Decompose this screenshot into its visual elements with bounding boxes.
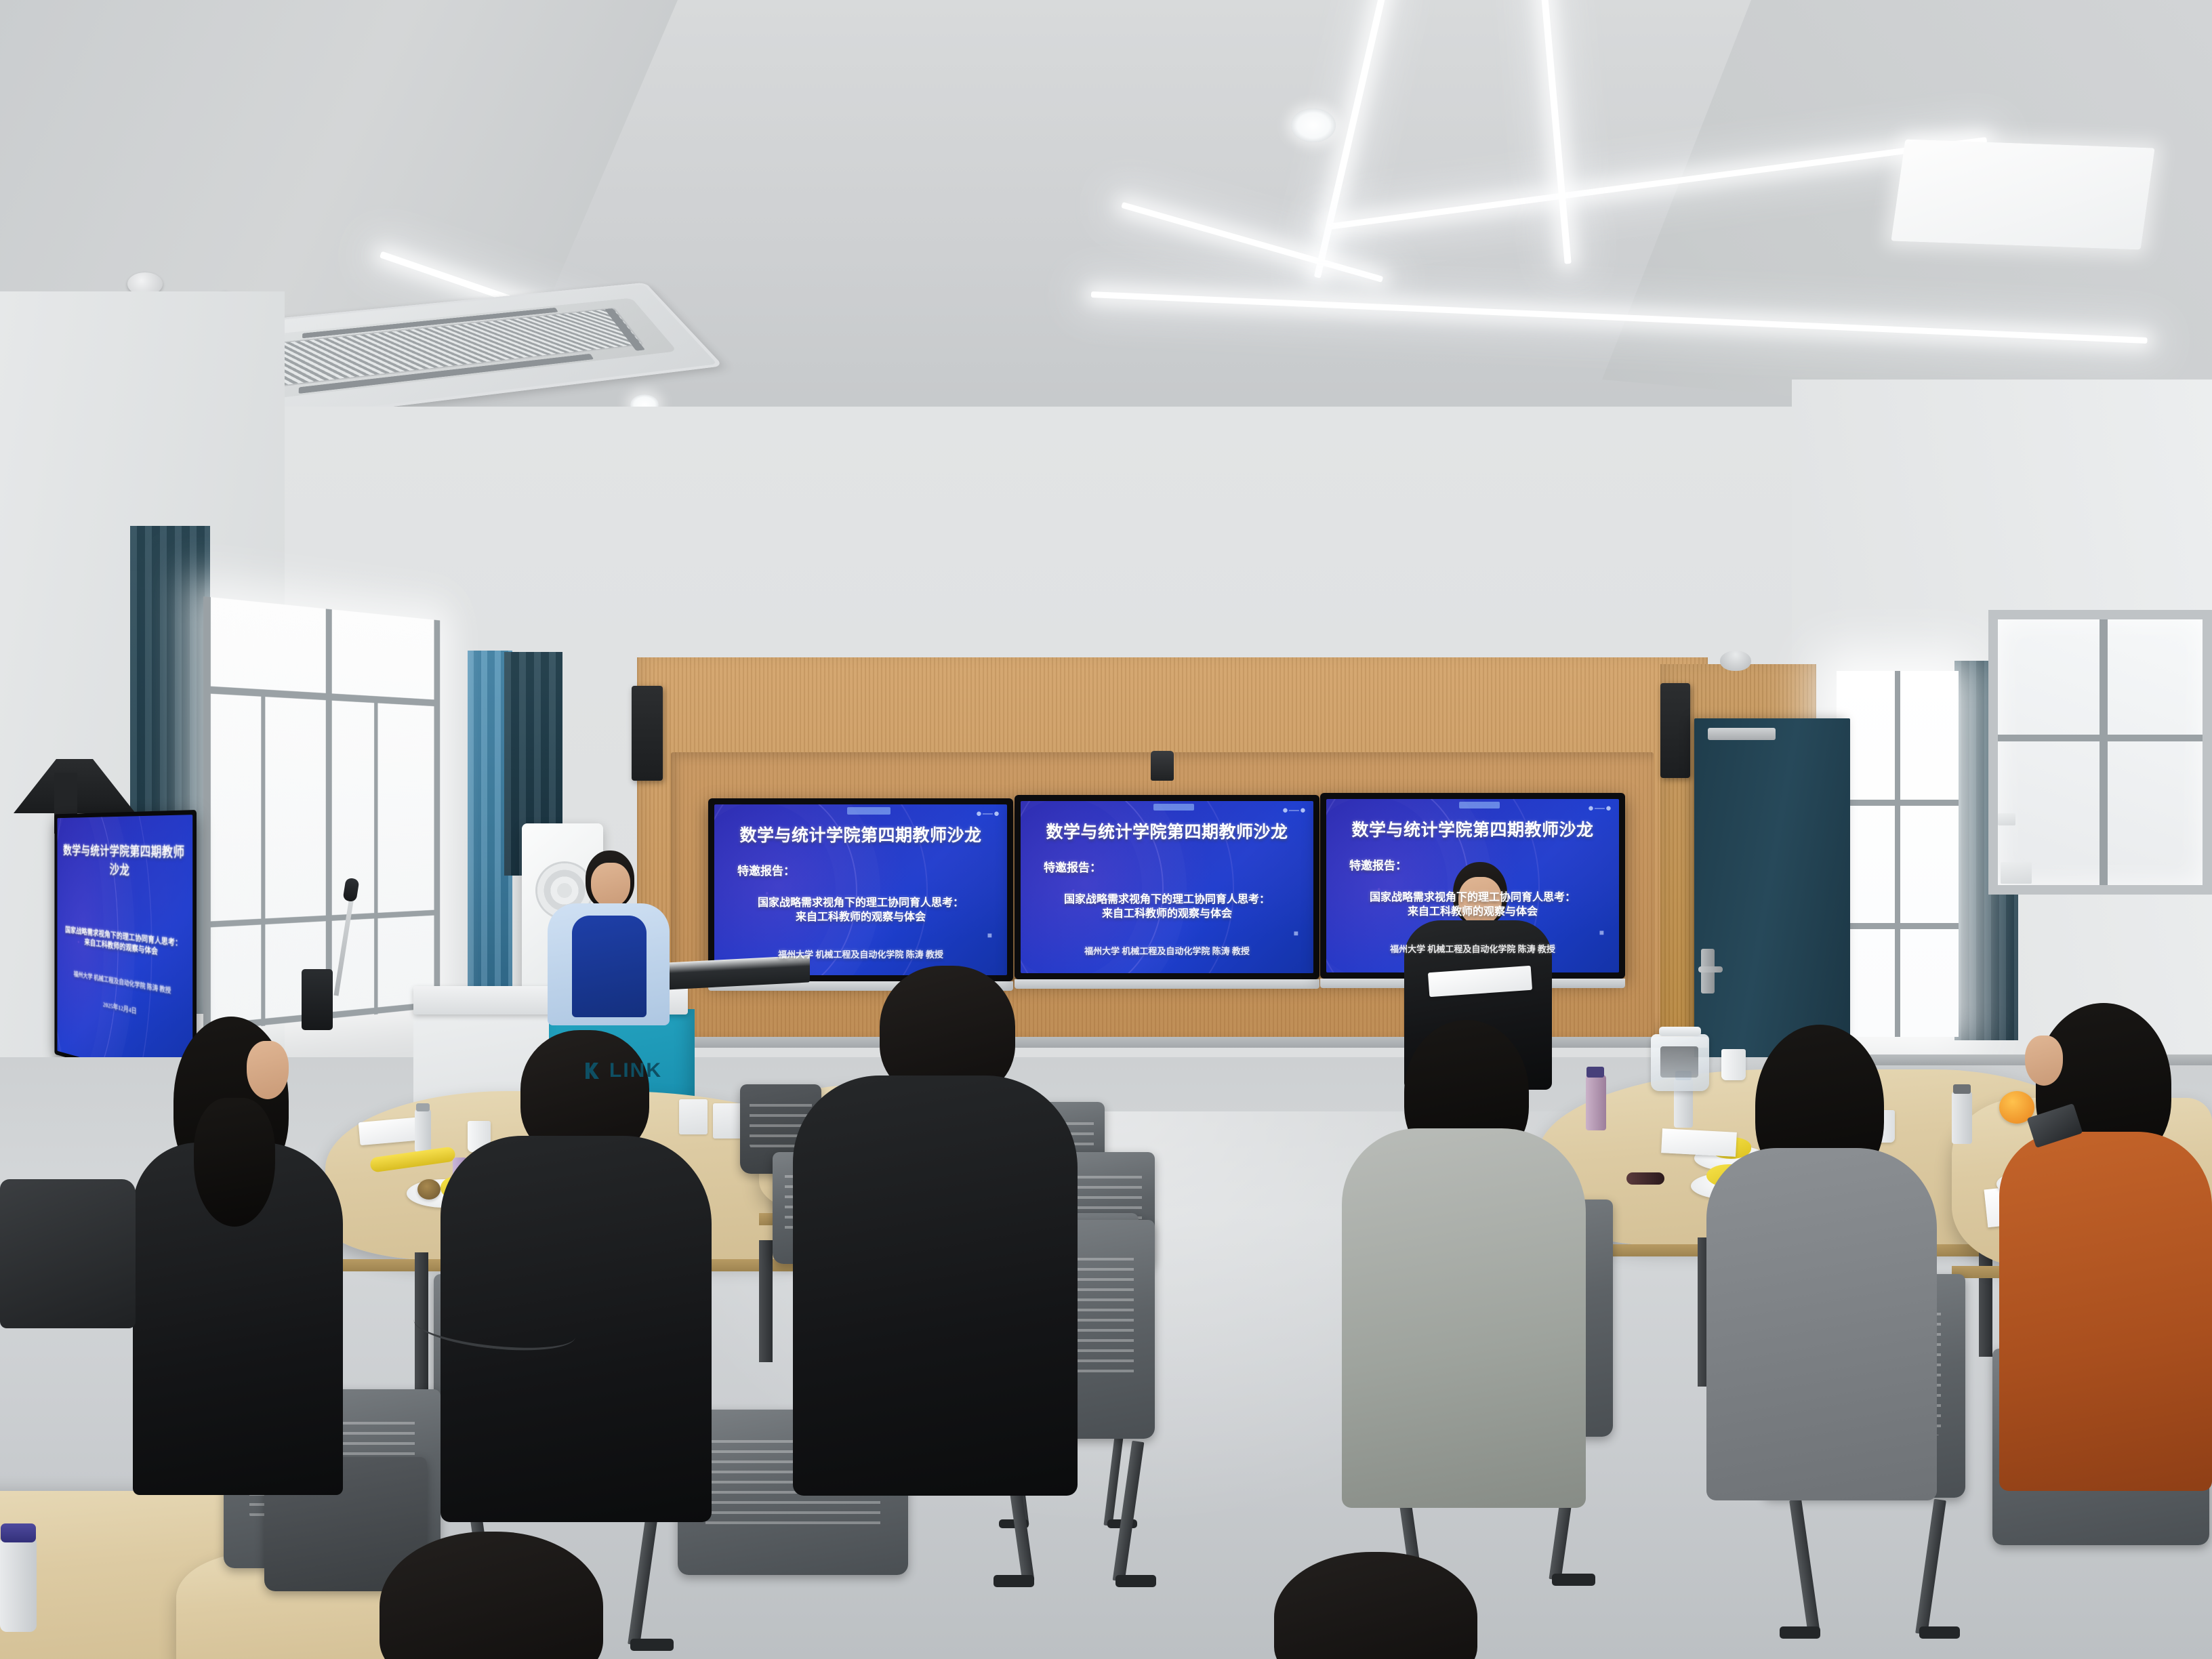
slide-title: 数学与统计学院第四期教师沙龙: [61, 841, 187, 882]
power-outlet[interactable]: [713, 1103, 741, 1139]
camera-icon: [1151, 751, 1174, 781]
attendee-1: [133, 1017, 356, 1491]
window-left: [203, 596, 440, 1030]
slide-label: 特邀报告：: [1349, 856, 1407, 873]
window-far-right: [1988, 610, 2212, 895]
slide-date: 2025年12月4日: [103, 1000, 137, 1017]
slide-author: 福州大学 机械工程及自动化学院 陈涛 教授: [1084, 944, 1250, 957]
table-leg: [759, 1240, 773, 1362]
slide-topic-line1: 国家战略需求视角下的理工协同育人思考：: [1064, 893, 1270, 907]
door-handle[interactable]: [1701, 949, 1715, 994]
slide-author: 福州大学 机械工程及自动化学院 陈涛 教授: [1390, 942, 1555, 955]
backpack: [0, 1179, 136, 1328]
attendee-foreground-right: [1274, 1552, 1477, 1659]
attendee-3: [793, 966, 1078, 1501]
main-display-3[interactable]: ●—● 数学与统计学院第四期教师沙龙 特邀报告： 国家战略需求视角下的理工协同育…: [1320, 793, 1625, 979]
slide-topic-line2: 来自工科教师的观察与体会: [796, 910, 926, 924]
bottle-cap-icon: [1, 1523, 36, 1542]
main-display-1[interactable]: ●—● 数学与统计学院第四期教师沙龙 特邀报告： 国家战略需求视角下的理工协同育…: [708, 798, 1013, 981]
slide-topic-line2: 来自工科教师的观察与体会: [1102, 907, 1232, 921]
attendee-6: [1999, 1003, 2212, 1491]
speaker-podium: [542, 851, 671, 1027]
slide-label: 特邀报告：: [737, 861, 795, 878]
attendee-2: [441, 1030, 712, 1518]
bottle-cap-icon: [1586, 1067, 1604, 1078]
yogurt-bottle: [0, 1537, 37, 1632]
meeting-room-photo: ●—● 数学与统计学院第四期教师沙龙 特邀报告： 国家战略需求视角下的理工协同育…: [0, 0, 2212, 1659]
water-bottle: [415, 1109, 431, 1152]
podium-brand-label: LINK: [609, 1059, 662, 1082]
bottle-cap-icon: [416, 1103, 430, 1111]
wall-switch-plate[interactable]: [1998, 813, 2015, 825]
wall-speaker-left: [632, 686, 663, 781]
slide-topic-line2: 来自工科教师的观察与体会: [1408, 905, 1538, 919]
bottle-cap-icon: [1953, 1084, 1971, 1094]
window-right: [1837, 671, 1959, 1037]
screen-corner-dots: ●—●: [976, 808, 1000, 819]
dome-camera-icon: [1720, 651, 1751, 671]
wall-speaker-right: [1660, 683, 1690, 778]
ceiling-light-panel: [1891, 140, 2154, 250]
attendee-foreground: [380, 1532, 603, 1659]
screen-corner-dots: ●—●: [1588, 802, 1612, 814]
downlight-icon: [1291, 108, 1336, 142]
kiwi-fruit: [417, 1179, 441, 1200]
screen-corner-dots: ●—●: [1282, 804, 1307, 816]
slide-title: 数学与统计学院第四期教师沙龙: [1031, 819, 1303, 843]
slide-topic-line1: 国家战略需求视角下的理工协同育人思考：: [1370, 890, 1576, 905]
water-bottle: [1952, 1091, 1972, 1144]
slide-label: 特邀报告：: [1044, 858, 1101, 875]
water-bottle: [1586, 1075, 1606, 1130]
link-logo-icon: [583, 1061, 603, 1081]
slide-title: 数学与统计学院第四期教师沙龙: [725, 822, 996, 846]
slide-author: 福州大学 机械工程及自动化学院 陈涛 教授: [778, 947, 943, 960]
attendee-4: [1342, 1020, 1586, 1508]
main-display-2[interactable]: ●—● 数学与统计学院第四期教师沙龙 特邀报告： 国家战略需求视角下的理工协同育…: [1015, 795, 1319, 979]
eyeglasses: [1626, 1172, 1664, 1185]
slide-author: 福州大学 机械工程及自动化学院 陈涛 教授: [74, 969, 171, 996]
podium-brand: LINK: [583, 1059, 662, 1082]
slide-topic-line1: 国家战略需求视角下的理工协同育人思考：: [758, 896, 964, 910]
slide-title: 数学与统计学院第四期教师沙龙: [1337, 817, 1608, 841]
electric-kettle: [1651, 1034, 1709, 1091]
attendee-5: [1706, 1025, 1937, 1499]
wall-switch-plate[interactable]: [2001, 862, 2032, 884]
door-closer: [1708, 728, 1776, 740]
